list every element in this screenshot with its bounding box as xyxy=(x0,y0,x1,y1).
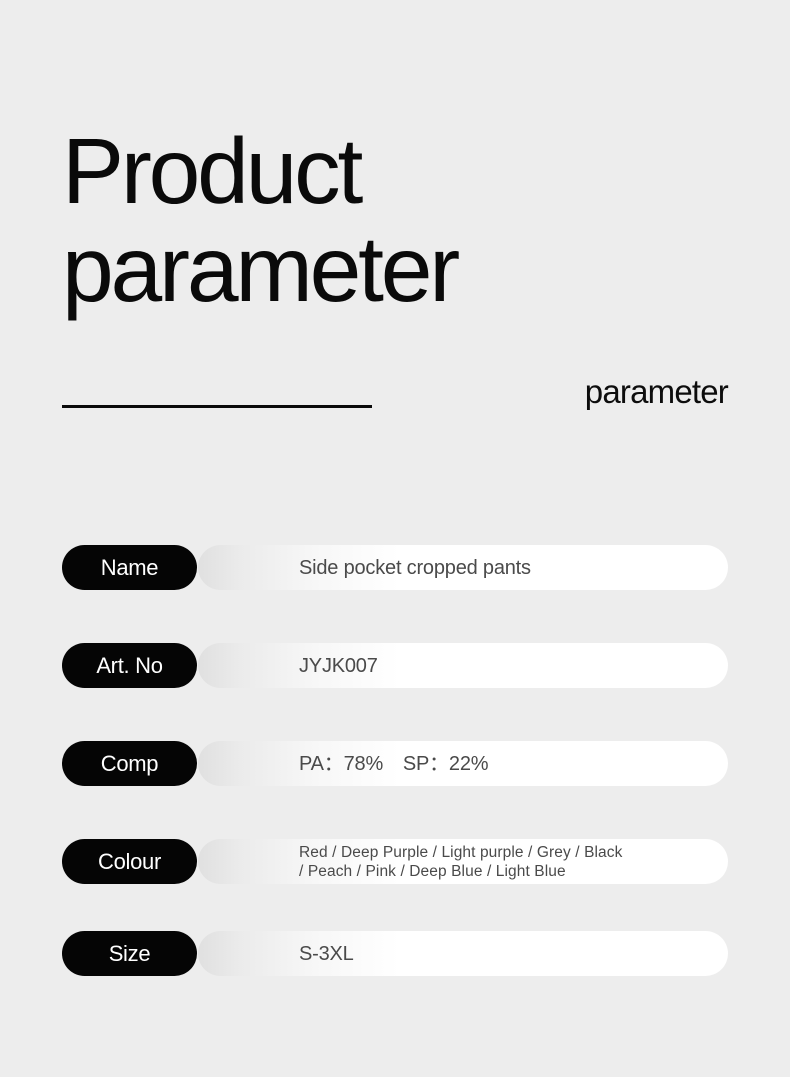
spec-row-size: S-3XL Size xyxy=(62,931,728,976)
spec-value-size: S-3XL xyxy=(198,931,728,976)
spec-value-text-comp: PA：78% SP：22% xyxy=(299,752,488,776)
spec-label-art-no: Art. No xyxy=(62,643,197,688)
subtitle-row: parameter xyxy=(62,372,728,420)
spec-row-art-no: JYJK007 Art. No xyxy=(62,643,728,688)
title-divider xyxy=(62,405,372,408)
spec-value-name: Side pocket cropped pants xyxy=(198,545,728,590)
spec-value-text-name: Side pocket cropped pants xyxy=(299,556,531,580)
spec-row-colour: Red / Deep Purple / Light purple / Grey … xyxy=(62,839,728,884)
spec-label-text-comp: Comp xyxy=(101,751,159,777)
spec-value-comp: PA：78% SP：22% xyxy=(198,741,728,786)
spec-label-text-name: Name xyxy=(101,555,159,581)
spec-label-colour: Colour xyxy=(62,839,197,884)
section-subtitle: parameter xyxy=(585,372,728,412)
spec-label-comp: Comp xyxy=(62,741,197,786)
page-header: Product parameter xyxy=(62,122,728,318)
spec-value-colour: Red / Deep Purple / Light purple / Grey … xyxy=(198,839,728,884)
spec-value-text-art-no: JYJK007 xyxy=(299,654,378,678)
spec-value-text-size: S-3XL xyxy=(299,942,354,966)
spec-value-text-colour: Red / Deep Purple / Light purple / Grey … xyxy=(299,843,622,881)
spec-value-art-no: JYJK007 xyxy=(198,643,728,688)
page-title: Product parameter xyxy=(62,122,728,318)
spec-label-text-size: Size xyxy=(109,941,151,967)
spec-label-text-art-no: Art. No xyxy=(96,653,162,679)
spec-label-name: Name xyxy=(62,545,197,590)
spec-row-comp: PA：78% SP：22% Comp xyxy=(62,741,728,786)
spec-list: Side pocket cropped pants Name JYJK007 A… xyxy=(62,545,728,976)
product-parameter-page: Product parameter parameter Side pocket … xyxy=(0,0,790,1077)
spec-row-name: Side pocket cropped pants Name xyxy=(62,545,728,590)
spec-label-size: Size xyxy=(62,931,197,976)
spec-label-text-colour: Colour xyxy=(98,849,161,875)
